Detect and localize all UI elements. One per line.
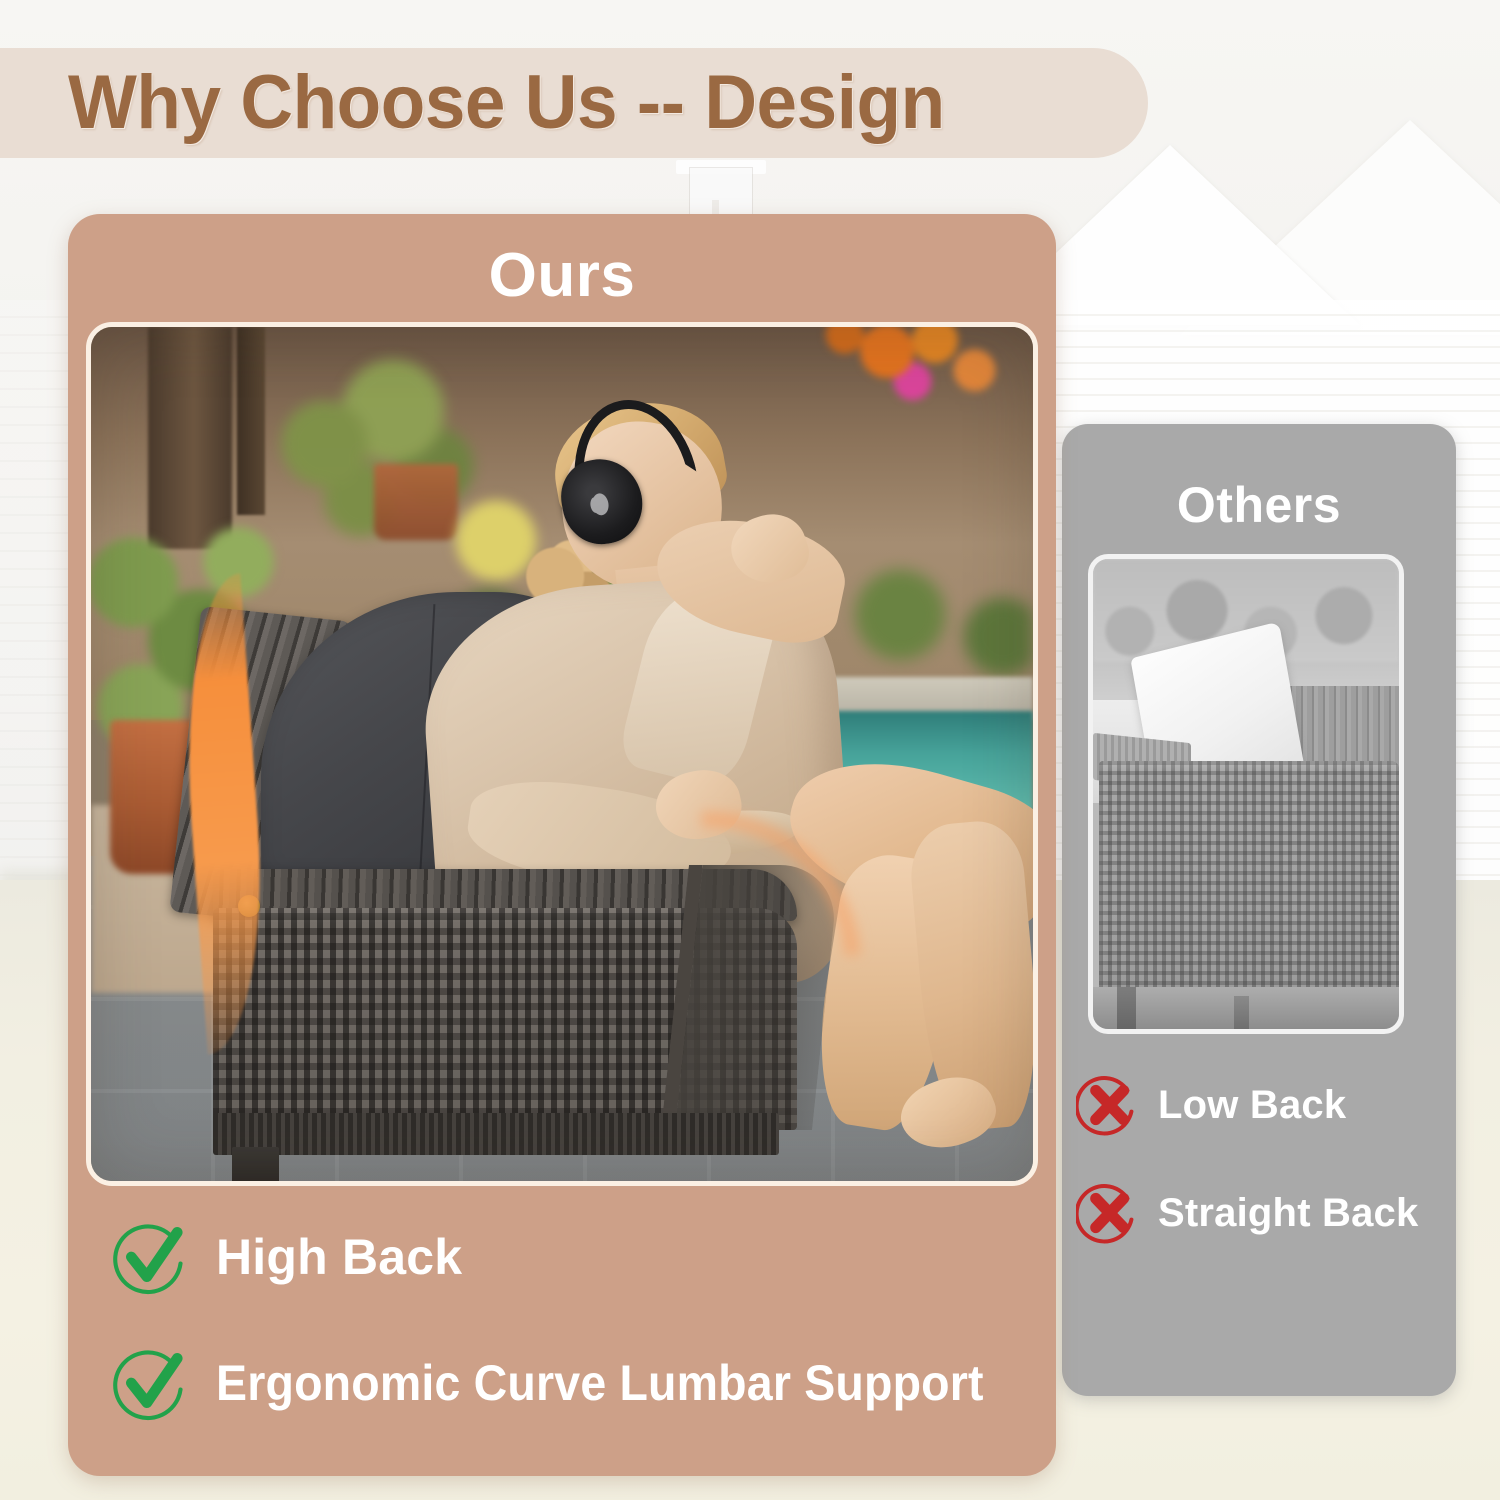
others-product-photo (1088, 554, 1404, 1034)
ours-bullet-item-high-back: High Back (110, 1216, 1098, 1298)
photo-bougainvillea-flowers (732, 327, 1015, 447)
others-title: Others (1062, 476, 1456, 534)
others-bullet-item-low-back: Low Back (1076, 1072, 1470, 1138)
check-circle-icon (110, 1216, 192, 1298)
page-title: Why Choose Us -- Design (68, 65, 945, 141)
ours-title: Ours (68, 240, 1056, 311)
ours-bullet-label: Ergonomic Curve Lumbar Support (216, 1354, 984, 1412)
others-photo-chair-body (1099, 761, 1399, 1005)
others-photo-scene (1093, 559, 1399, 1029)
check-circle-icon (110, 1342, 192, 1424)
others-photo-chair-leg-right (1234, 996, 1249, 1029)
ours-product-photo (86, 322, 1038, 1186)
photo-chair-brass-bolt (238, 895, 260, 917)
page-title-banner: Why Choose Us -- Design (0, 48, 1148, 158)
others-comparison-panel: Others Low Back (1062, 424, 1456, 1396)
photo-chair-leg (232, 1147, 279, 1181)
ours-bullet-item-lumbar-support: Ergonomic Curve Lumbar Support (110, 1342, 1098, 1424)
ours-bullet-list: High Back Ergonomic Curve Lumbar Support (110, 1216, 1098, 1468)
photo-chair-base-rail (213, 1113, 778, 1156)
ours-bullet-label: High Back (216, 1228, 462, 1286)
others-bullet-label: Low Back (1158, 1083, 1346, 1128)
ours-comparison-panel: Ours (68, 214, 1056, 1476)
others-photo-chair-leg-left (1117, 987, 1135, 1029)
photo-chair-front-edge (661, 865, 840, 1130)
others-bullet-item-straight-back: Straight Back (1076, 1180, 1470, 1246)
ours-photo-scene (91, 327, 1033, 1181)
others-bullet-label: Straight Back (1158, 1191, 1418, 1236)
others-bullet-list: Low Back Straight Back (1076, 1072, 1470, 1288)
x-circle-icon (1076, 1072, 1142, 1138)
